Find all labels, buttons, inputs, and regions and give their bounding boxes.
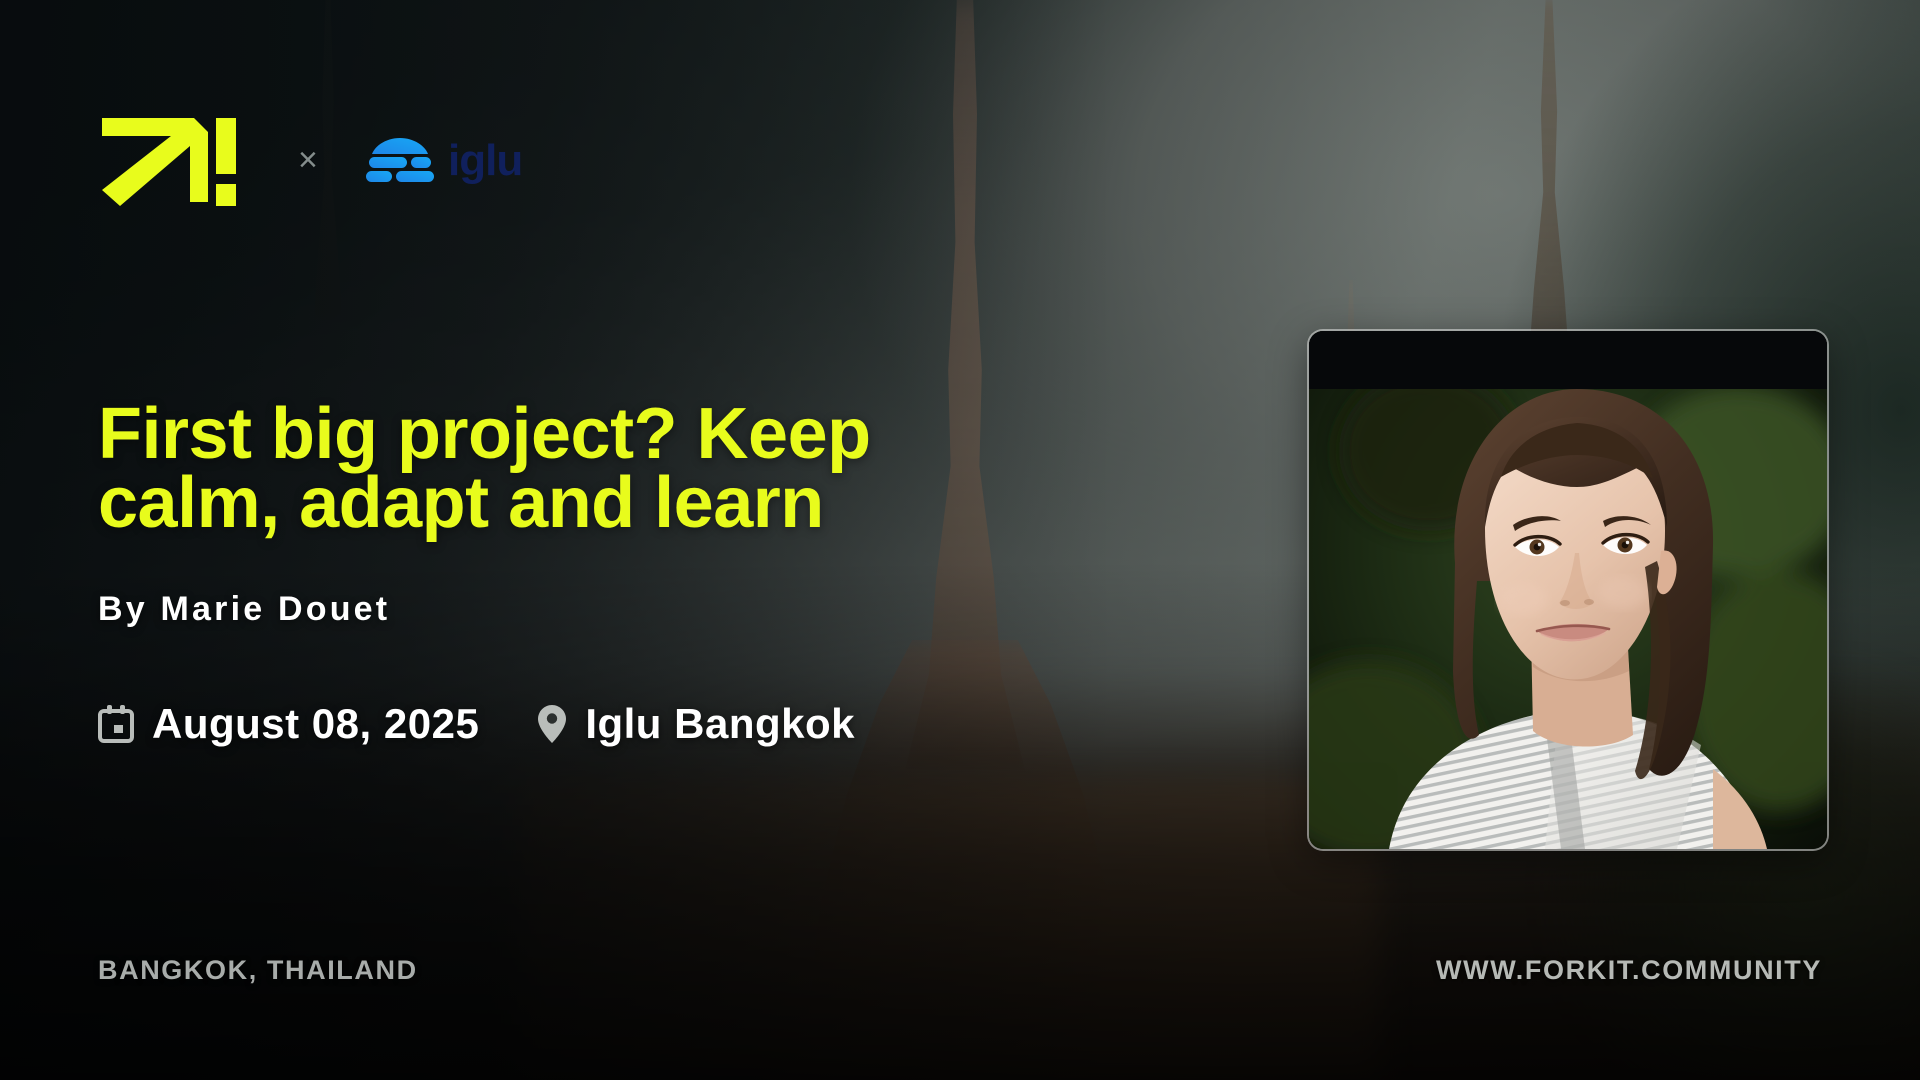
event-date: August 08, 2025	[98, 700, 479, 748]
event-venue-label: Iglu Bangkok	[585, 700, 855, 748]
logo-row: × ig	[98, 112, 540, 208]
talk-byline: By Marie Douet	[98, 590, 390, 629]
speaker-portrait-image	[1309, 331, 1827, 849]
forkit-arrow-exclamation-logo	[98, 112, 238, 208]
footer-website[interactable]: WWW.FORKIT.COMMUNITY	[1436, 955, 1822, 986]
iglu-logo: iglu	[364, 134, 540, 186]
event-date-label: August 08, 2025	[152, 700, 479, 748]
svg-text:iglu: iglu	[448, 136, 522, 185]
speaker-portrait	[1309, 331, 1827, 849]
talk-title: First big project? Keep calm, adapt and …	[98, 400, 1028, 538]
event-announcement-poster: × ig	[0, 0, 1920, 1080]
iglu-wordmark: iglu	[448, 134, 540, 186]
footer-location: BANGKOK, THAILAND	[98, 955, 418, 986]
event-meta-row: August 08, 2025 Iglu Bangkok	[98, 700, 855, 748]
calendar-icon	[98, 705, 134, 743]
iglu-igloo-logo	[364, 134, 436, 186]
collaboration-separator-icon: ×	[298, 143, 318, 177]
map-pin-icon	[537, 704, 567, 744]
poster-content: × ig	[0, 0, 1920, 1080]
event-venue: Iglu Bangkok	[537, 700, 855, 748]
